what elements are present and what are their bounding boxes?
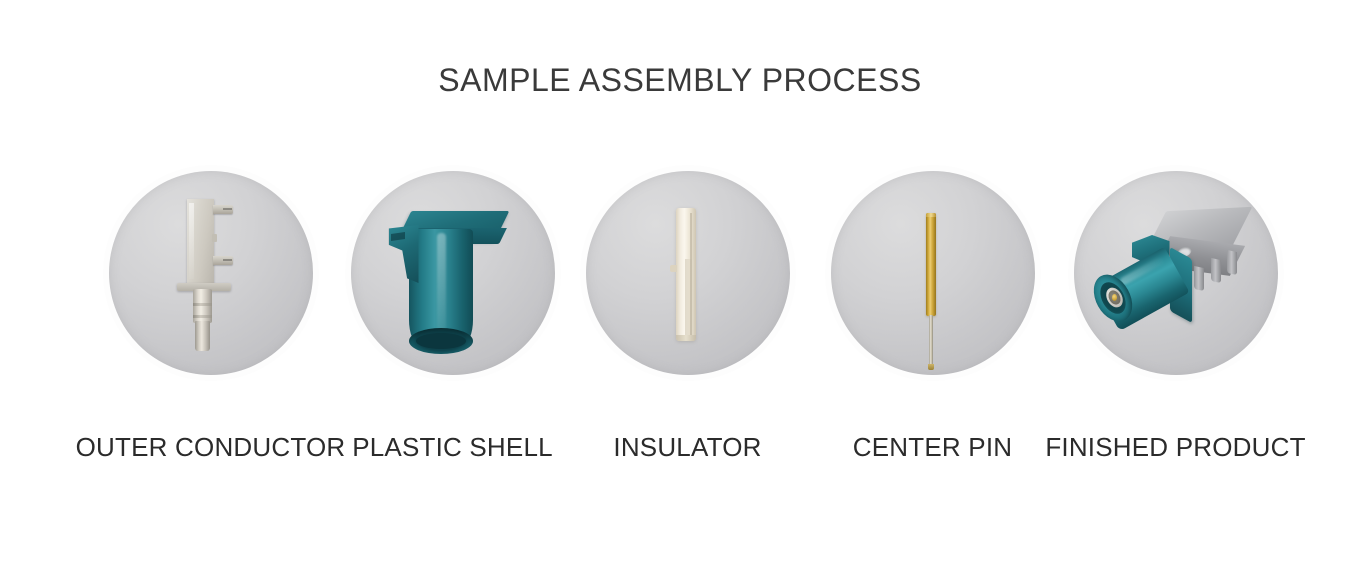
insulator-nub-icon — [670, 265, 677, 272]
step-label-finished-product: FINISHED PRODUCT — [1033, 432, 1318, 463]
outer-conductor-plate-icon — [187, 199, 214, 284]
assembly-step-outer-conductor[interactable]: OUTER CONDUCTOR — [88, 160, 333, 490]
outer-conductor-ring-upper-icon — [193, 303, 212, 306]
part-photo-disc-plastic-shell — [345, 165, 561, 381]
center-pin-barrel-icon — [926, 213, 936, 316]
center-pin-top-face-icon — [926, 213, 936, 217]
assembly-steps-row: OUTER CONDUCTOR PLASTIC SHELL — [0, 160, 1360, 490]
center-pin-tail-icon — [929, 315, 933, 369]
finished-product-illustration — [1074, 171, 1278, 375]
insulator-seam-icon — [690, 213, 692, 335]
disc-photo-background — [1074, 171, 1278, 375]
part-photo-disc-outer-conductor — [103, 165, 319, 381]
outer-conductor-ring-lower-icon — [193, 315, 212, 318]
plastic-shell-illustration — [351, 171, 555, 375]
center-pin-illustration — [831, 171, 1035, 375]
plastic-shell-opening-icon — [409, 328, 473, 354]
part-photo-disc-insulator — [580, 165, 796, 381]
disc-photo-background — [586, 171, 790, 375]
outer-conductor-tip-icon — [195, 321, 210, 351]
connector-solder-leg-icon — [1211, 258, 1221, 283]
step-label-insulator: INSULATOR — [545, 432, 830, 463]
connector-solder-leg-icon — [1194, 266, 1204, 291]
assembly-step-finished-product[interactable]: FINISHED PRODUCT — [1053, 160, 1298, 490]
insulator-illustration — [586, 171, 790, 375]
assembly-process-page: SAMPLE ASSEMBLY PROCESS — [0, 0, 1360, 581]
part-photo-disc-center-pin — [825, 165, 1041, 381]
center-pin-tip-icon — [928, 364, 934, 370]
outer-conductor-upper-prong-icon — [213, 205, 233, 214]
assembly-step-center-pin[interactable]: CENTER PIN — [810, 160, 1055, 490]
assembly-step-plastic-shell[interactable]: PLASTIC SHELL — [330, 160, 575, 490]
disc-photo-background — [351, 171, 555, 375]
outer-conductor-nub-icon — [212, 234, 217, 242]
plastic-shell-highlight-icon — [437, 233, 446, 333]
disc-photo-background — [109, 171, 313, 375]
disc-photo-background — [831, 171, 1035, 375]
page-title: SAMPLE ASSEMBLY PROCESS — [0, 62, 1360, 99]
connector-center-contact-icon — [1112, 294, 1117, 301]
insulator-base-icon — [676, 335, 696, 341]
outer-conductor-lower-prong-icon — [213, 256, 233, 265]
outer-conductor-illustration — [109, 171, 313, 375]
part-photo-disc-finished-product — [1068, 165, 1284, 381]
connector-solder-leg-icon — [1227, 250, 1237, 275]
assembly-step-insulator[interactable]: INSULATOR — [565, 160, 810, 490]
